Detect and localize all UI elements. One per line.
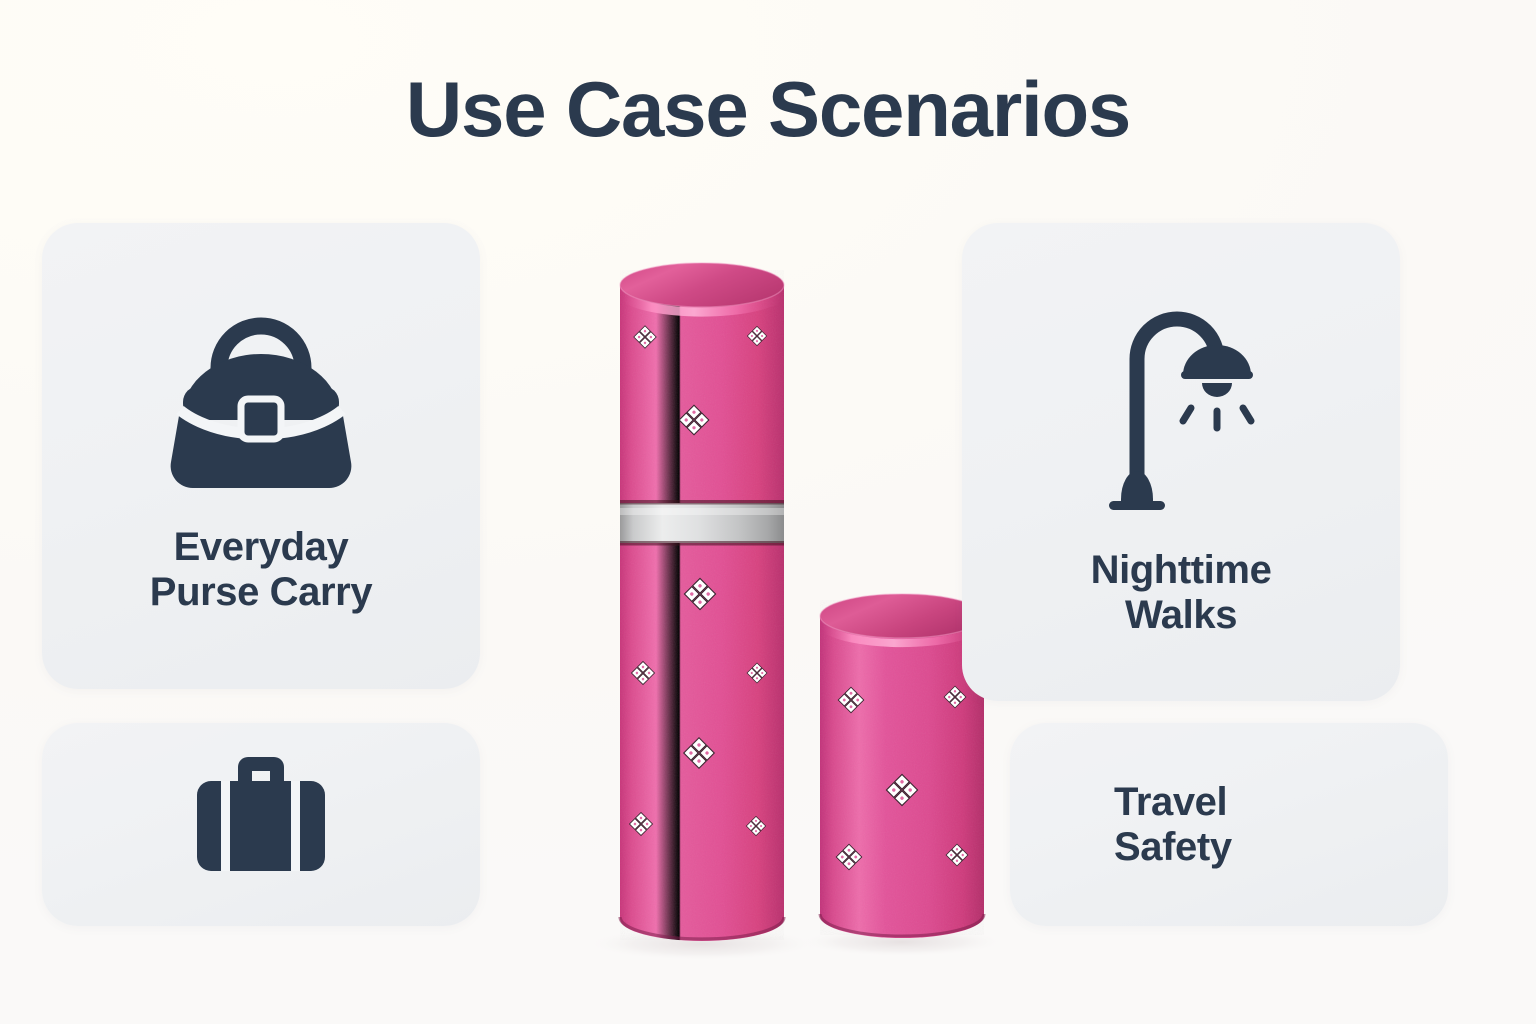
- card-content: Nighttime Walks: [962, 223, 1400, 701]
- body-pattern: [629, 326, 766, 836]
- card-content: [42, 723, 480, 926]
- card-travel-safety[interactable]: Travel Safety: [1010, 723, 1448, 926]
- street-lamp-icon: [1107, 287, 1255, 522]
- page-title: Use Case Scenarios: [0, 70, 1536, 148]
- product-cap-unit: [820, 594, 984, 940]
- card-content: Everyday Purse Carry: [42, 223, 480, 689]
- infographic-canvas: Use Case Scenarios: [0, 0, 1536, 1024]
- cap-pattern: [836, 686, 968, 870]
- suitcase-icon: [177, 731, 345, 896]
- card-content: Travel Safety: [1010, 723, 1448, 926]
- card-label-nighttime-walks: Nighttime Walks: [1091, 548, 1272, 638]
- card-nighttime-walks[interactable]: Nighttime Walks: [962, 223, 1400, 701]
- handbag-icon: [156, 298, 366, 503]
- card-label-travel-safety: Travel Safety: [1114, 780, 1232, 870]
- card-label-everyday-purse-carry: Everyday Purse Carry: [150, 525, 372, 615]
- product-body-unit: [620, 263, 784, 950]
- card-travel-suitcase[interactable]: [42, 723, 480, 926]
- card-everyday-purse-carry[interactable]: Everyday Purse Carry: [42, 223, 480, 689]
- silver-band: [620, 500, 784, 546]
